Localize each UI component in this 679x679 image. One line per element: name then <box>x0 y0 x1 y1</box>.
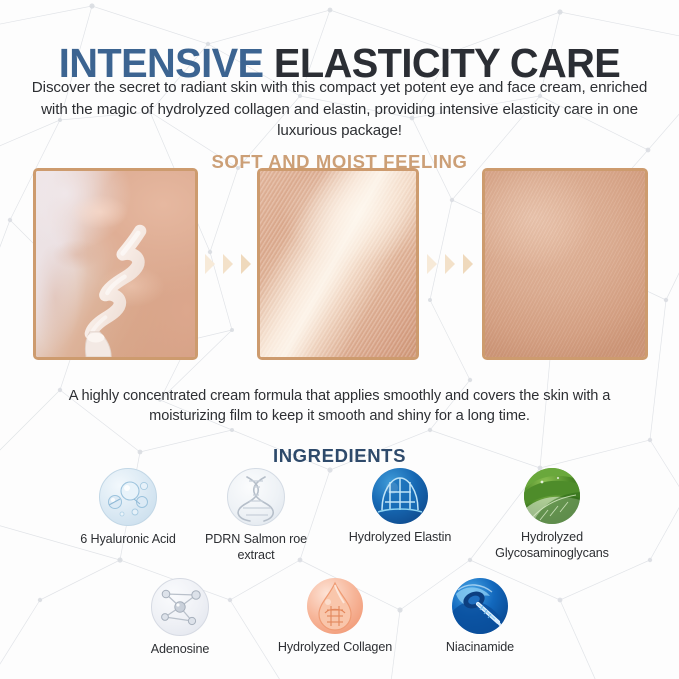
cream-on-hand-image <box>36 171 195 357</box>
chevron-right-icon <box>424 251 440 277</box>
cream-zigzag-swirl <box>36 171 195 357</box>
ingredient-label: Hydrolyzed Glycosaminoglycans <box>472 530 632 561</box>
ingredient-label: 6 Hyaluronic Acid <box>58 532 198 548</box>
ingredient-hyaluronic-acid: 6 Hyaluronic Acid <box>58 468 198 548</box>
ingredients-row-1: 6 Hyaluronic Acid <box>0 468 679 568</box>
dna-helix-glyph <box>228 469 284 525</box>
panel-cream-applied-to-hand <box>33 168 198 360</box>
ingredient-hydrolyzed-glycosaminoglycans: Hydrolyzed Glycosaminoglycans <box>472 468 632 561</box>
chevron-right-icon <box>460 251 476 277</box>
green-leaf-glyph <box>524 468 580 524</box>
arrow-step-2-to-3 <box>421 168 479 360</box>
water-bubbles-glyph <box>100 469 156 525</box>
collagen-droplet-glyph <box>307 578 363 634</box>
chevron-right-icon <box>238 251 254 277</box>
water-bubbles-icon <box>99 468 157 526</box>
arrow-step-1-to-2 <box>199 168 257 360</box>
niacinamide-sphere-glyph <box>452 578 508 634</box>
application-steps-row <box>0 168 679 360</box>
green-leaf-icon <box>524 468 580 524</box>
formula-caption: A highly concentrated cream formula that… <box>52 386 627 427</box>
molecule-glyph <box>152 579 208 635</box>
chevron-right-icon <box>220 251 236 277</box>
ingredient-label: Hydrolyzed Elastin <box>330 530 470 546</box>
panel-cream-spread-glossy-skin <box>257 168 419 360</box>
chevron-right-icon <box>202 251 218 277</box>
ingredient-hydrolyzed-collagen: Hydrolyzed Collagen <box>260 578 410 656</box>
ingredient-label: PDRN Salmon roe extract <box>186 532 326 563</box>
dna-helix-icon <box>227 468 285 526</box>
elastin-dome-glyph <box>372 468 428 524</box>
intro-paragraph: Discover the secret to radiant skin with… <box>28 77 651 142</box>
elastin-fiber-dome-icon <box>372 468 428 524</box>
ingredient-label: Adenosine <box>110 642 250 658</box>
glossy-skin-image <box>260 171 416 357</box>
smooth-skin-image <box>485 171 645 357</box>
ingredients-row-2: Adenosine Hydrolyzed Collag <box>0 578 679 676</box>
ingredient-niacinamide: Niacinamide <box>410 578 550 656</box>
collagen-droplet-icon <box>307 578 363 634</box>
molecule-icon <box>151 578 209 636</box>
section-heading-ingredients: INGREDIENTS <box>0 445 679 467</box>
ingredient-hydrolyzed-elastin: Hydrolyzed Elastin <box>330 468 470 546</box>
product-infographic-page: INTENSIVE ELASTICITY CARE Discover the s… <box>0 0 679 679</box>
ingredient-adenosine: Adenosine <box>110 578 250 658</box>
niacinamide-sphere-icon <box>452 578 508 634</box>
ingredient-pdrn-salmon-roe-extract: PDRN Salmon roe extract <box>186 468 326 563</box>
chevron-right-icon <box>442 251 458 277</box>
ingredient-label: Niacinamide <box>410 640 550 656</box>
panel-smooth-absorbed-skin <box>482 168 648 360</box>
ingredient-label: Hydrolyzed Collagen <box>260 640 410 656</box>
